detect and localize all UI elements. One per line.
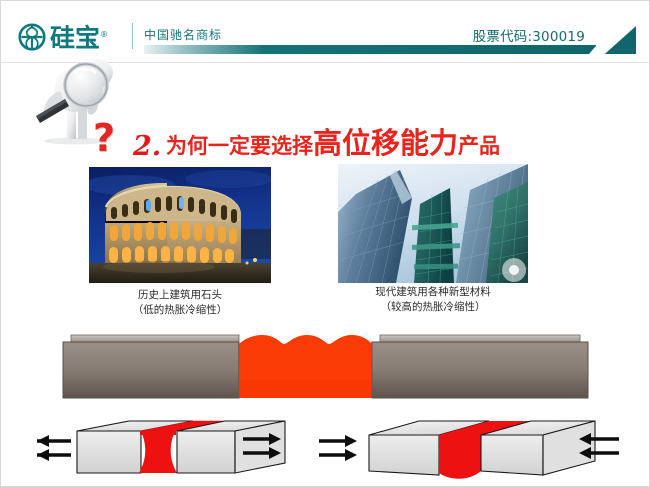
brand-lockup: 硅宝®	[18, 20, 108, 54]
caption-historic-stone: 历史上建筑用石头 （低的热胀冷缩性）	[89, 288, 271, 318]
caption-line-1: 现代建筑用各种新型材料	[333, 285, 533, 300]
siliconbao-circle-logo-icon	[18, 23, 46, 51]
sealant-joint-cross-section-diagram	[62, 334, 590, 400]
caption-modern-materials: 现代建筑用各种新型材料 （较高的热胀冷缩性）	[333, 285, 533, 315]
title-lead: 为何一定要选择	[166, 134, 313, 158]
slide-canvas: 硅宝® 中国驰名商标 股票代码:300019	[0, 0, 650, 487]
joint-tension-blocks-diagram	[37, 421, 285, 473]
title-tail: 产品	[458, 134, 500, 158]
caption-line-1: 历史上建筑用石头	[89, 288, 271, 303]
title-emphasis: 高位移能力	[313, 126, 458, 160]
caption-line-2: （低的热胀冷缩性）	[89, 303, 271, 318]
header-divider	[132, 23, 133, 49]
caption-line-2: （较高的热胀冷缩性）	[333, 300, 533, 315]
header-accent-bar	[144, 45, 596, 54]
stock-code: 股票代码:300019	[473, 25, 585, 45]
glass-skyscrapers-photo	[338, 164, 528, 283]
registered-mark: ®	[100, 30, 108, 39]
joint-movement-diagrams	[19, 409, 633, 481]
joint-compression-blocks-diagram	[319, 421, 619, 479]
slide-title-row: 2. 为何一定要选择高位移能力产品	[1, 63, 650, 115]
question-mark: ?	[93, 119, 115, 157]
page-title: 为何一定要选择高位移能力产品	[166, 129, 500, 158]
brand-slogan: 中国驰名商标	[144, 26, 222, 43]
colosseum-photo	[89, 167, 271, 283]
brand-name: 硅宝®	[50, 21, 108, 52]
title-number: 2.	[133, 133, 161, 160]
